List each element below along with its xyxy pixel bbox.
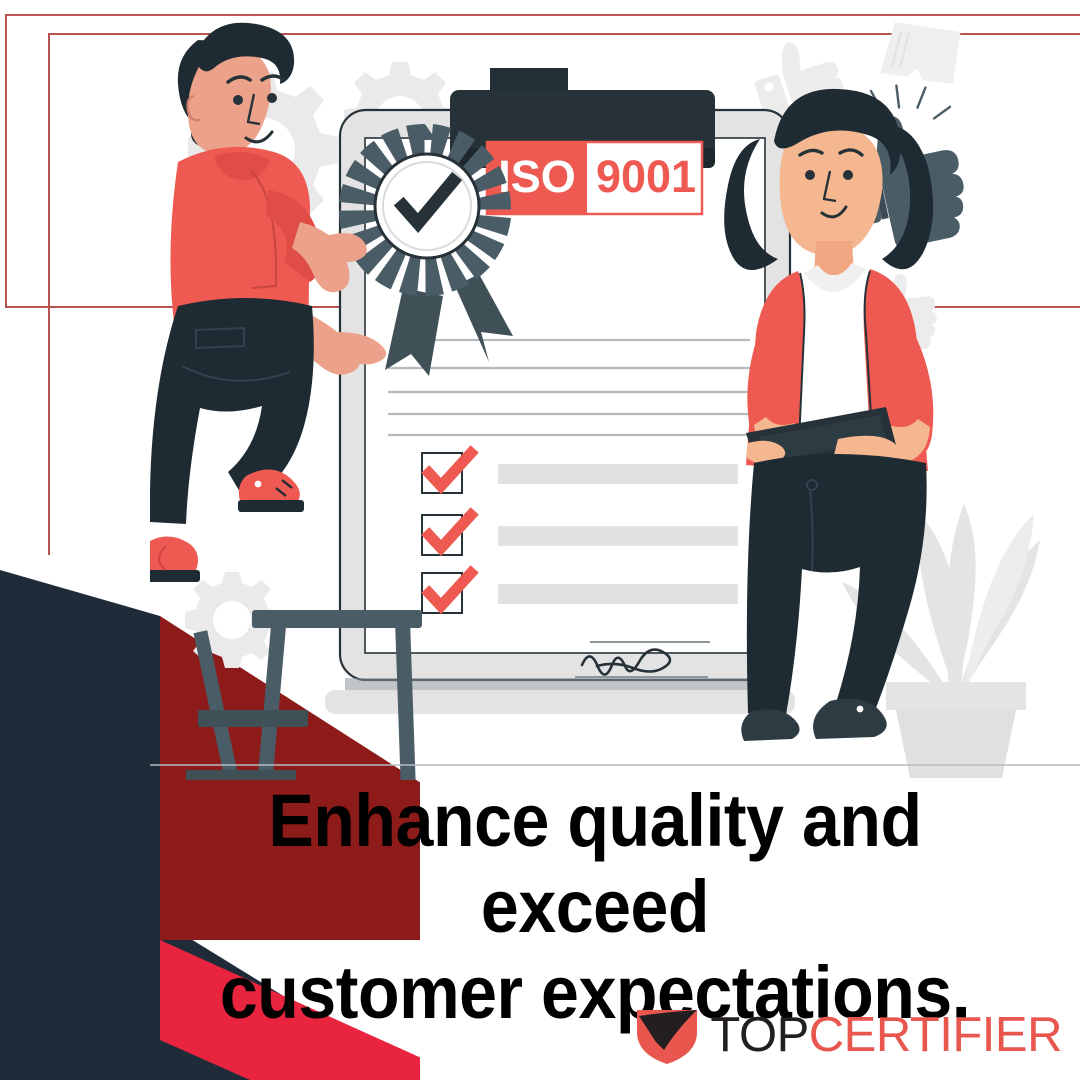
- iso-badge-number-text: 9001: [596, 151, 696, 202]
- checklist-bar: [498, 584, 738, 604]
- page-title: Enhance quality and exceed customer expe…: [158, 778, 1032, 1035]
- logo-word-top: TOP: [710, 1011, 808, 1060]
- shield-icon: [634, 1004, 700, 1066]
- logo-wordmark: TOPCERTIFIER: [710, 1011, 1062, 1060]
- illustration: ISO 9001: [150, 10, 1080, 780]
- logo-word-certifier: CERTIFIER: [809, 1011, 1062, 1060]
- brand-logo[interactable]: TOPCERTIFIER: [634, 1004, 1062, 1066]
- ladder-step: [198, 710, 308, 727]
- man-shoe2-upper: [150, 536, 198, 572]
- clipboard-base: [325, 690, 795, 714]
- plant-pot-body: [896, 710, 1016, 778]
- checklist-bar: [498, 526, 738, 546]
- plant-pot-rim: [886, 682, 1026, 710]
- woman-pants: [747, 454, 927, 715]
- man-shoe2-sole: [150, 570, 200, 582]
- woman-shoe-left: [741, 709, 799, 741]
- poster-canvas: ISO 9001: [0, 0, 1080, 1080]
- headline-line-1: Enhance quality and exceed: [268, 779, 921, 948]
- paper-sticker-icon: [880, 16, 965, 91]
- man-shoe-sole: [238, 500, 304, 512]
- iso-badge: ISO 9001: [487, 142, 702, 214]
- checklist-bar: [498, 464, 738, 484]
- ribbon-navy-shape: [0, 570, 160, 1080]
